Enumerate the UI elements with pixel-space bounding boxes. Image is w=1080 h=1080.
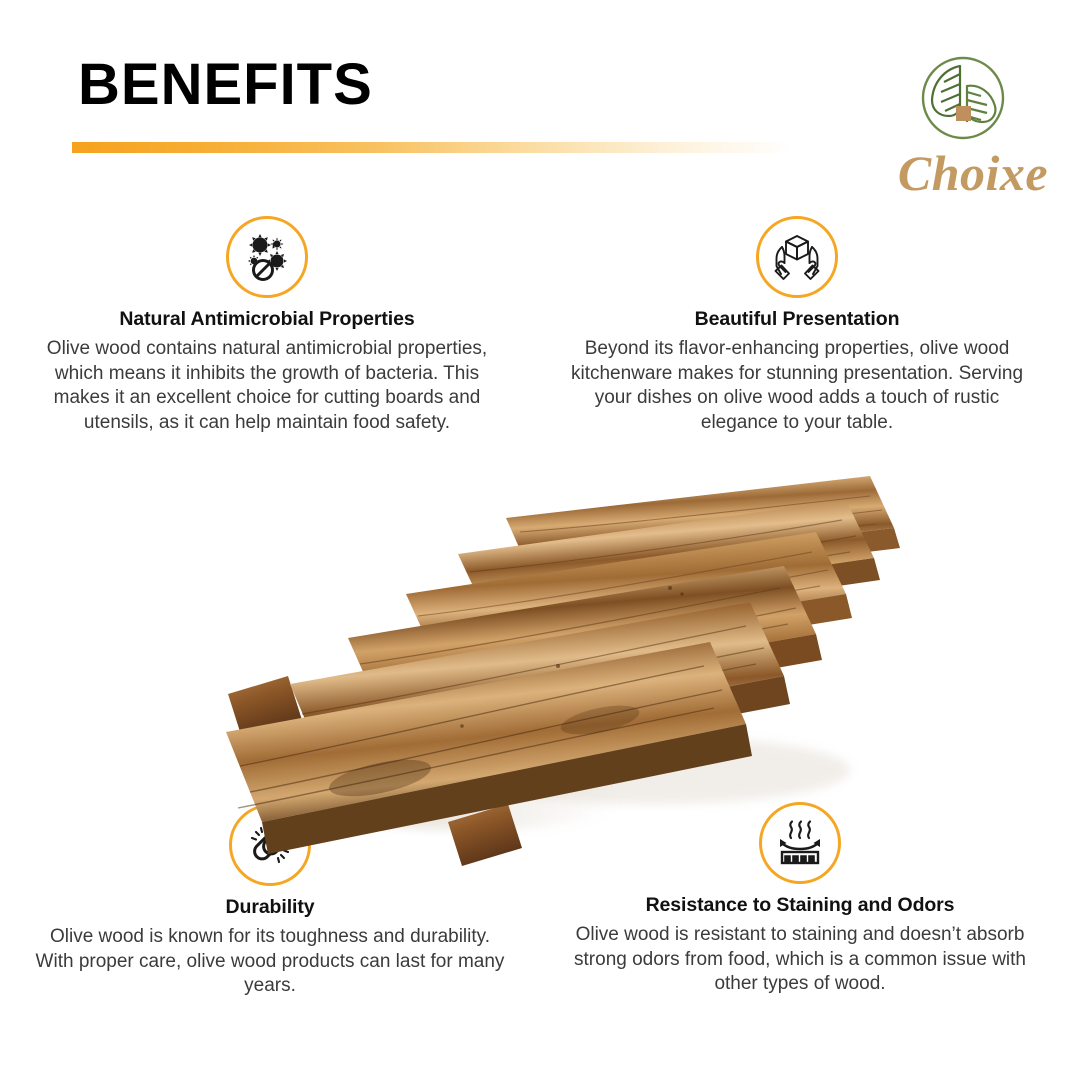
feature-durability: Durability Olive wood is known for its t… (35, 804, 505, 999)
feature-title: Durability (35, 896, 505, 919)
germ-prohibition-icon (226, 216, 308, 298)
feature-body: Beyond its flavor-enhancing properties, … (562, 337, 1032, 435)
feature-title: Natural Antimicrobial Properties (32, 308, 502, 331)
feature-beautiful-presentation: Beautiful Presentation Beyond its flavor… (562, 216, 1032, 435)
brand-wordmark: Choixe (893, 144, 1053, 202)
feature-body: Olive wood contains natural antimicrobia… (32, 337, 502, 435)
chain-link-icon (229, 804, 311, 886)
brand-logo: Choixe (893, 52, 1053, 200)
feature-title: Beautiful Presentation (562, 308, 1032, 331)
feature-natural-antimicrobial: Natural Antimicrobial Properties Olive w… (32, 216, 502, 435)
feature-resistance-staining-odors: Resistance to Staining and Odors Olive w… (565, 802, 1035, 997)
feature-title: Resistance to Staining and Odors (565, 894, 1035, 917)
hands-holding-box-icon (756, 216, 838, 298)
benefits-infographic: BENEFITS Choixe (0, 0, 1080, 1080)
title-underline-rule (72, 142, 792, 153)
page-title: BENEFITS (78, 56, 373, 114)
odor-waves-surface-icon (759, 802, 841, 884)
feature-body: Olive wood is known for its toughness an… (35, 925, 505, 999)
feature-body: Olive wood is resistant to staining and … (565, 923, 1035, 997)
leaf-circle-logo-icon (915, 52, 1011, 148)
